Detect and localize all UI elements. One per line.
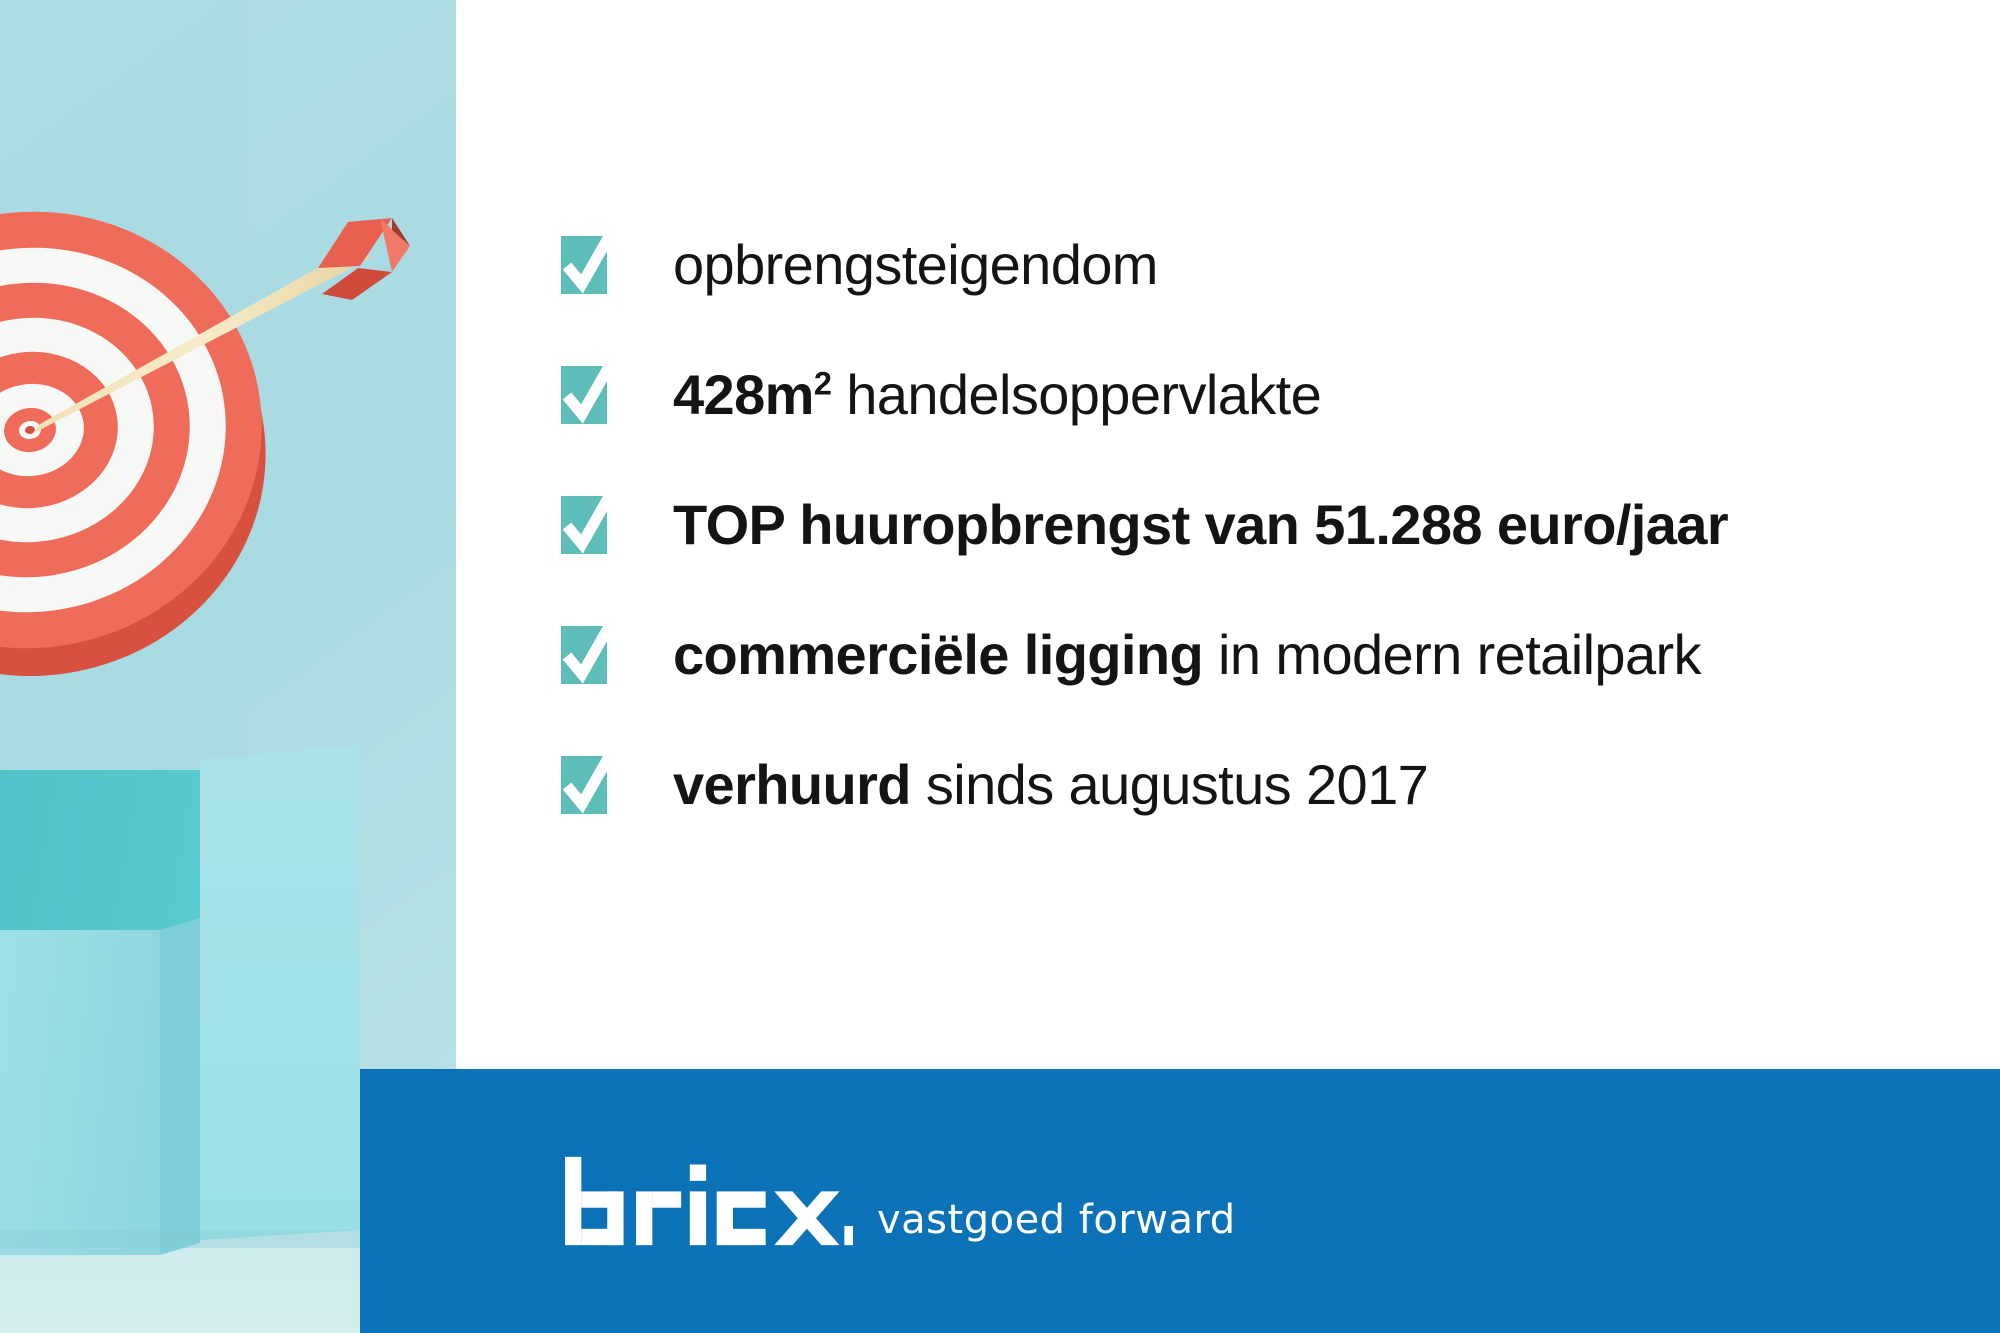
- list-item: TOP huuropbrengst van 51.288 euro/jaar: [561, 475, 1981, 575]
- check-square-icon: [561, 756, 607, 814]
- check-square-icon: [561, 236, 607, 294]
- feature-list: opbrengsteigendom 428m2 handelsoppervlak…: [561, 215, 1981, 835]
- list-item: commerciële ligging in modern retailpark: [561, 605, 1981, 705]
- list-item-strong: TOP huuropbrengst van 51.288 euro/jaar: [673, 493, 1728, 556]
- check-square-icon: [561, 626, 607, 684]
- list-item-text: 428m2 handelsoppervlakte: [673, 366, 1321, 423]
- list-item-strong: 428m: [673, 363, 814, 426]
- list-item-text: TOP huuropbrengst van 51.288 euro/jaar: [673, 496, 1728, 553]
- list-item-text: verhuurd sinds augustus 2017: [673, 756, 1428, 813]
- logo-lockup[interactable]: vastgoed forward: [565, 1153, 1236, 1249]
- list-item: 428m2 handelsoppervlakte: [561, 345, 1981, 445]
- check-square-icon: [561, 496, 607, 554]
- list-item-text: opbrengsteigendom: [673, 236, 1158, 293]
- property-feature-slide: opbrengsteigendom 428m2 handelsoppervlak…: [0, 0, 2000, 1333]
- list-item: opbrengsteigendom: [561, 215, 1981, 315]
- brand-footer: vastgoed forward: [360, 1069, 2000, 1333]
- check-square-icon: [561, 366, 607, 424]
- superscript: 2: [814, 366, 831, 402]
- list-item-strong: commerciële ligging: [673, 623, 1203, 686]
- pedestal-blocks: [0, 745, 360, 1255]
- bricx-wordmark: [565, 1153, 853, 1249]
- list-item: verhuurd sinds augustus 2017: [561, 735, 1981, 835]
- list-item-text: commerciële ligging in modern retailpark: [673, 626, 1701, 683]
- logo-tagline: vastgoed forward: [877, 1197, 1236, 1243]
- list-item-strong: verhuurd: [673, 753, 911, 816]
